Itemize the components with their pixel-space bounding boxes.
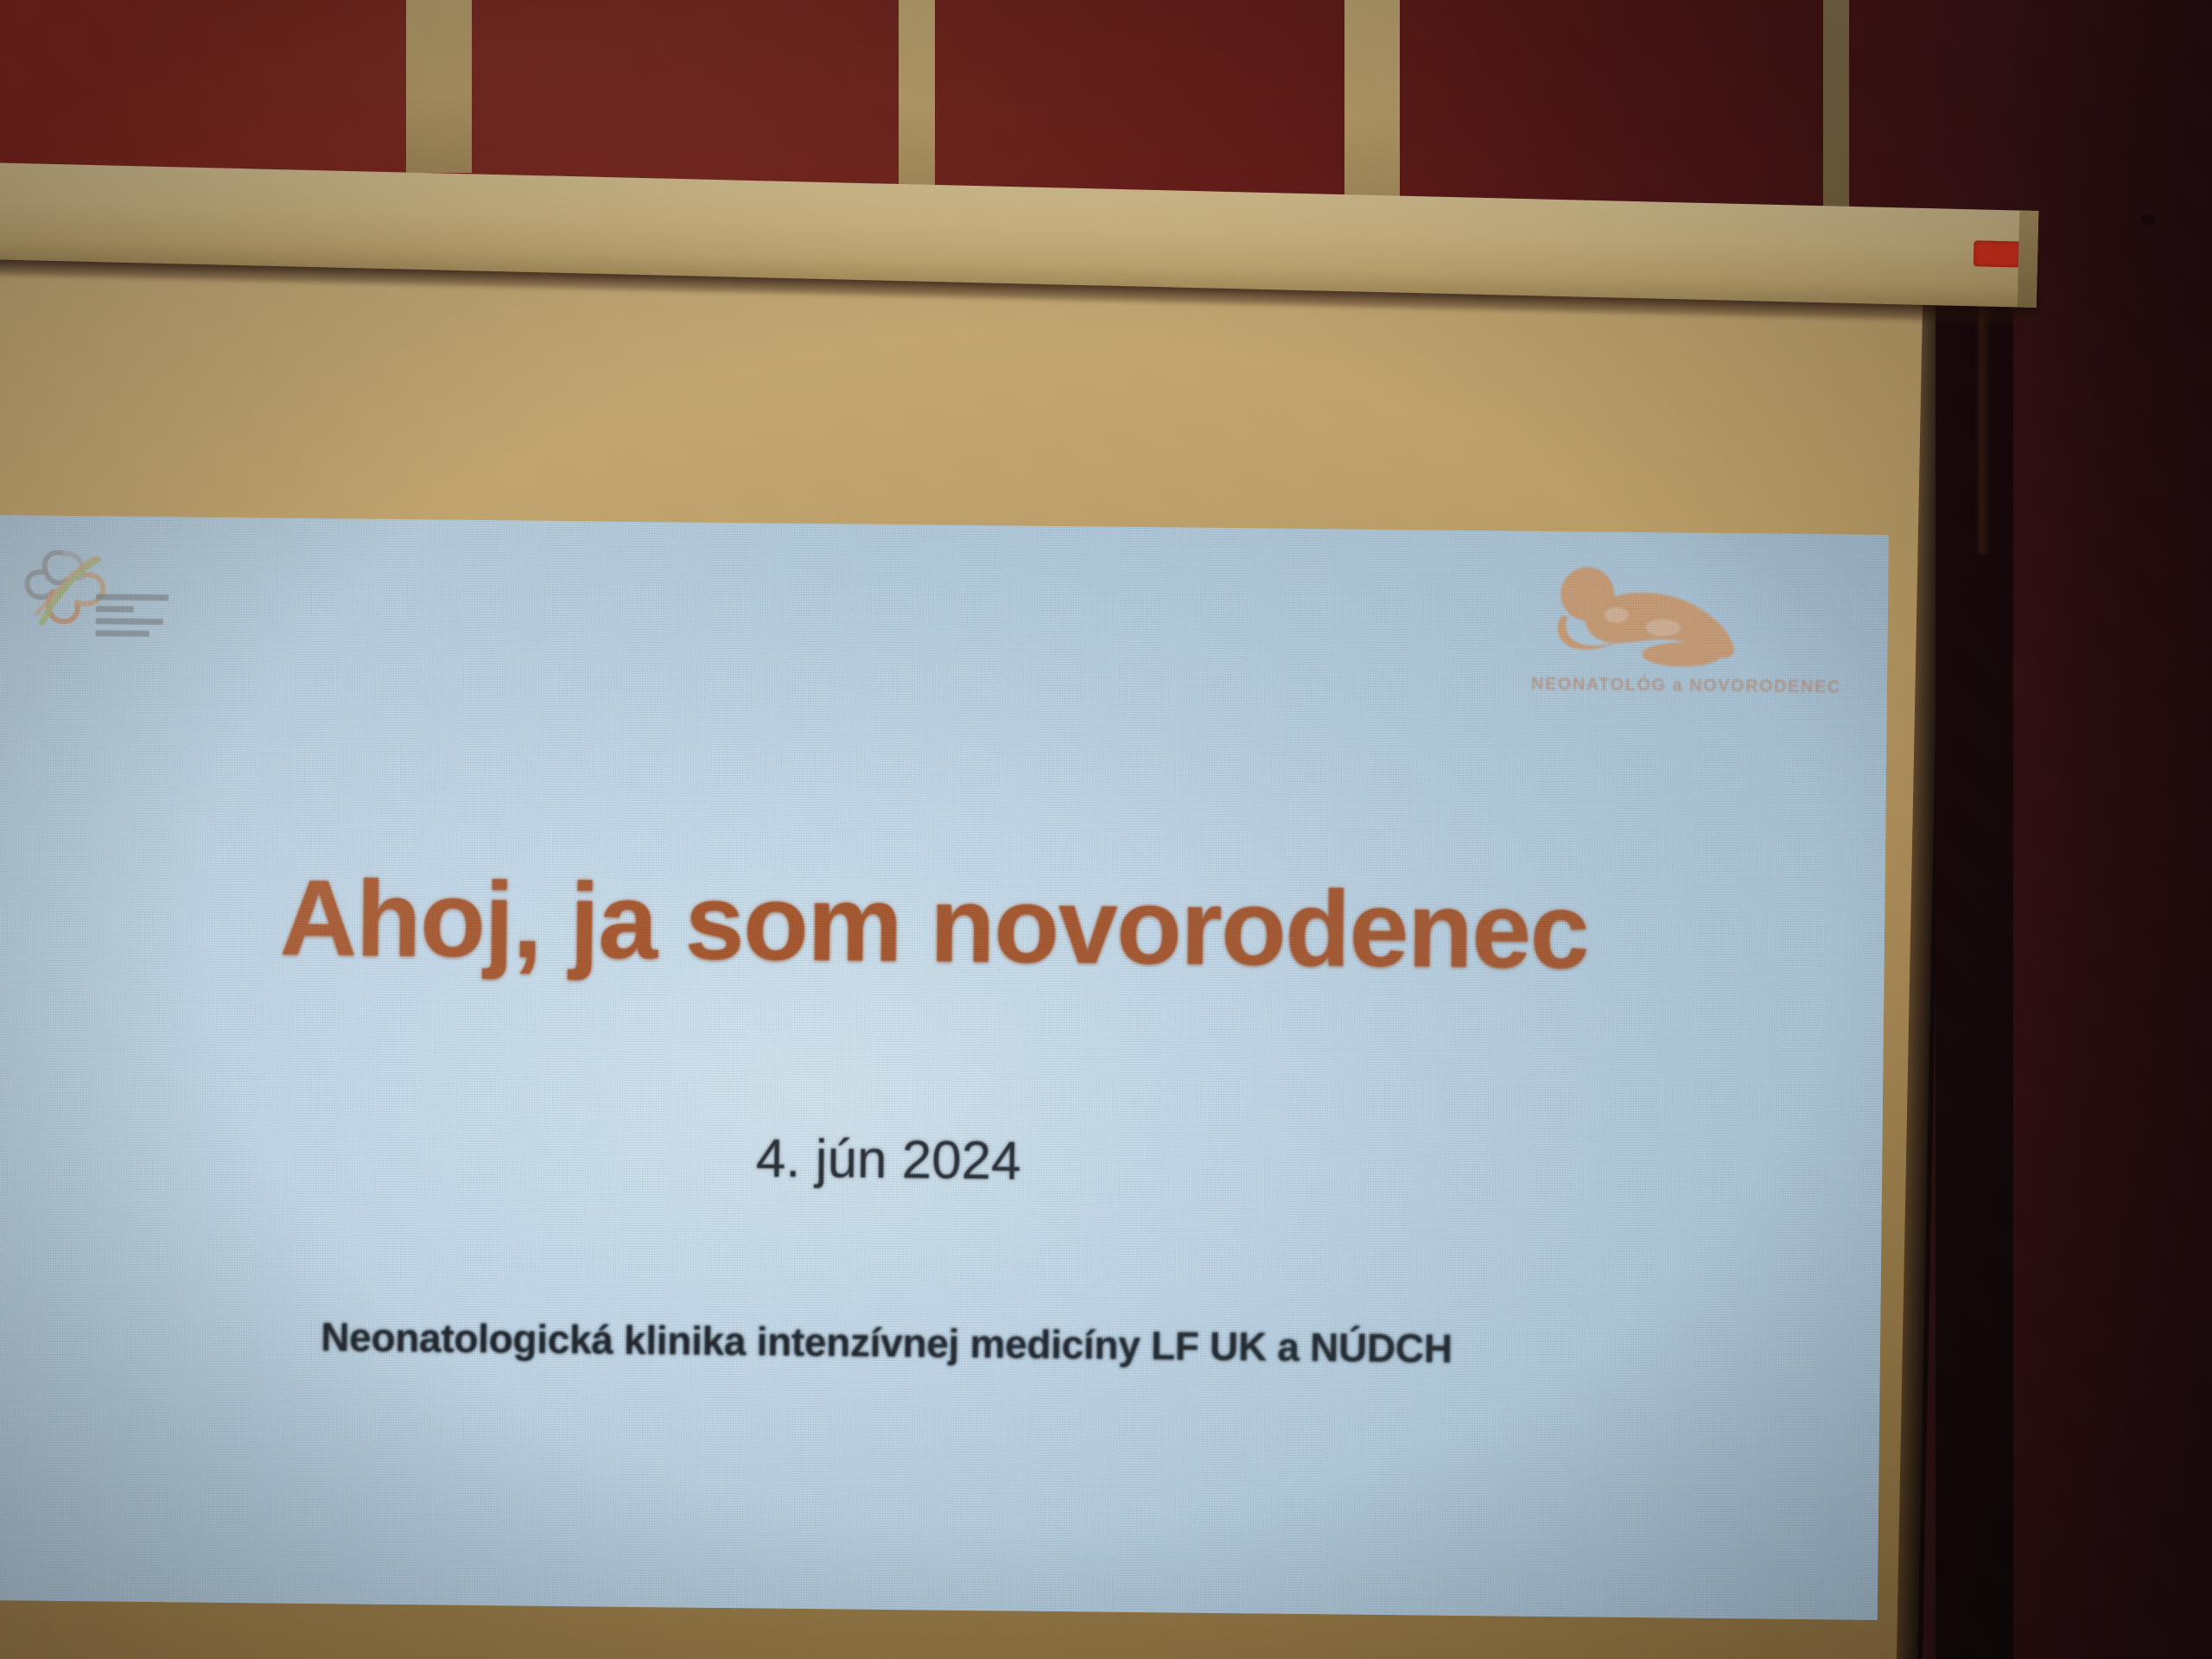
wall-panel-stripe [1823,0,1849,220]
wall-mark [2141,214,2155,225]
baby-silhouette-icon [1533,564,1767,679]
photo-scene: NEONATOLÓG a NOVORODENEC Ahoj, ja som no… [0,0,2212,1659]
slide-title: Ahoj, ja som novorodenec [0,854,1885,996]
projected-slide: NEONATOLÓG a NOVORODENEC Ahoj, ja som no… [0,515,1889,1620]
baby-logo: NEONATOLÓG a NOVORODENEC [1524,564,1785,722]
wall-panel-stripe [406,0,472,173]
baby-logo-caption: NEONATOLÓG a NOVORODENEC [1531,675,1773,697]
slide-date: 4. jún 2024 [0,1120,1796,1200]
red-sticker-icon [1974,240,2023,267]
nudch-wordmark-lines [95,594,170,643]
wall-panel-stripe [899,0,935,194]
roller-bar-end-cap [2018,211,2039,308]
nudch-clover-logo [10,534,176,665]
wall-panel-stripe [1344,0,1400,207]
dark-wall-right [2013,0,2212,1659]
slide-subtitle: Neonatologická klinika intenzívnej medic… [0,1310,1794,1376]
